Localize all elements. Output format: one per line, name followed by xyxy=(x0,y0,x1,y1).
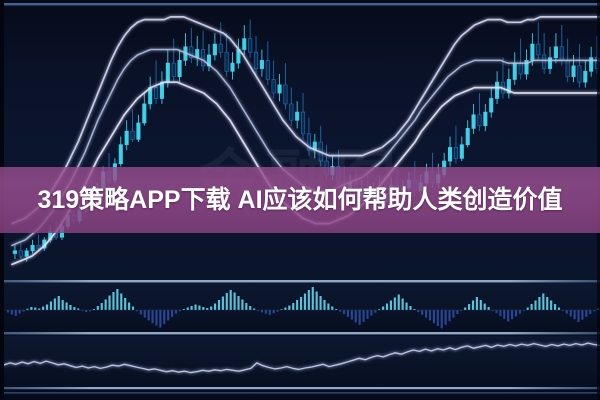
oscillator-panel xyxy=(0,336,600,394)
oscillator-panel-bottom-separator xyxy=(0,387,600,389)
bottom-frame-line xyxy=(0,392,600,394)
oscillator-panel-bg xyxy=(0,336,600,388)
top-frame-line xyxy=(0,3,600,5)
trading-chart xyxy=(0,0,600,400)
top-frame-line-soft xyxy=(0,5,600,6)
macd-panel-bottom-separator xyxy=(0,332,600,334)
macd-panel-top-separator xyxy=(0,280,600,282)
chart-screenshot: 金融图 319策略APP下载 AI应该如何帮助人类创造价值 xyxy=(0,0,600,400)
macd-panel xyxy=(0,280,600,334)
